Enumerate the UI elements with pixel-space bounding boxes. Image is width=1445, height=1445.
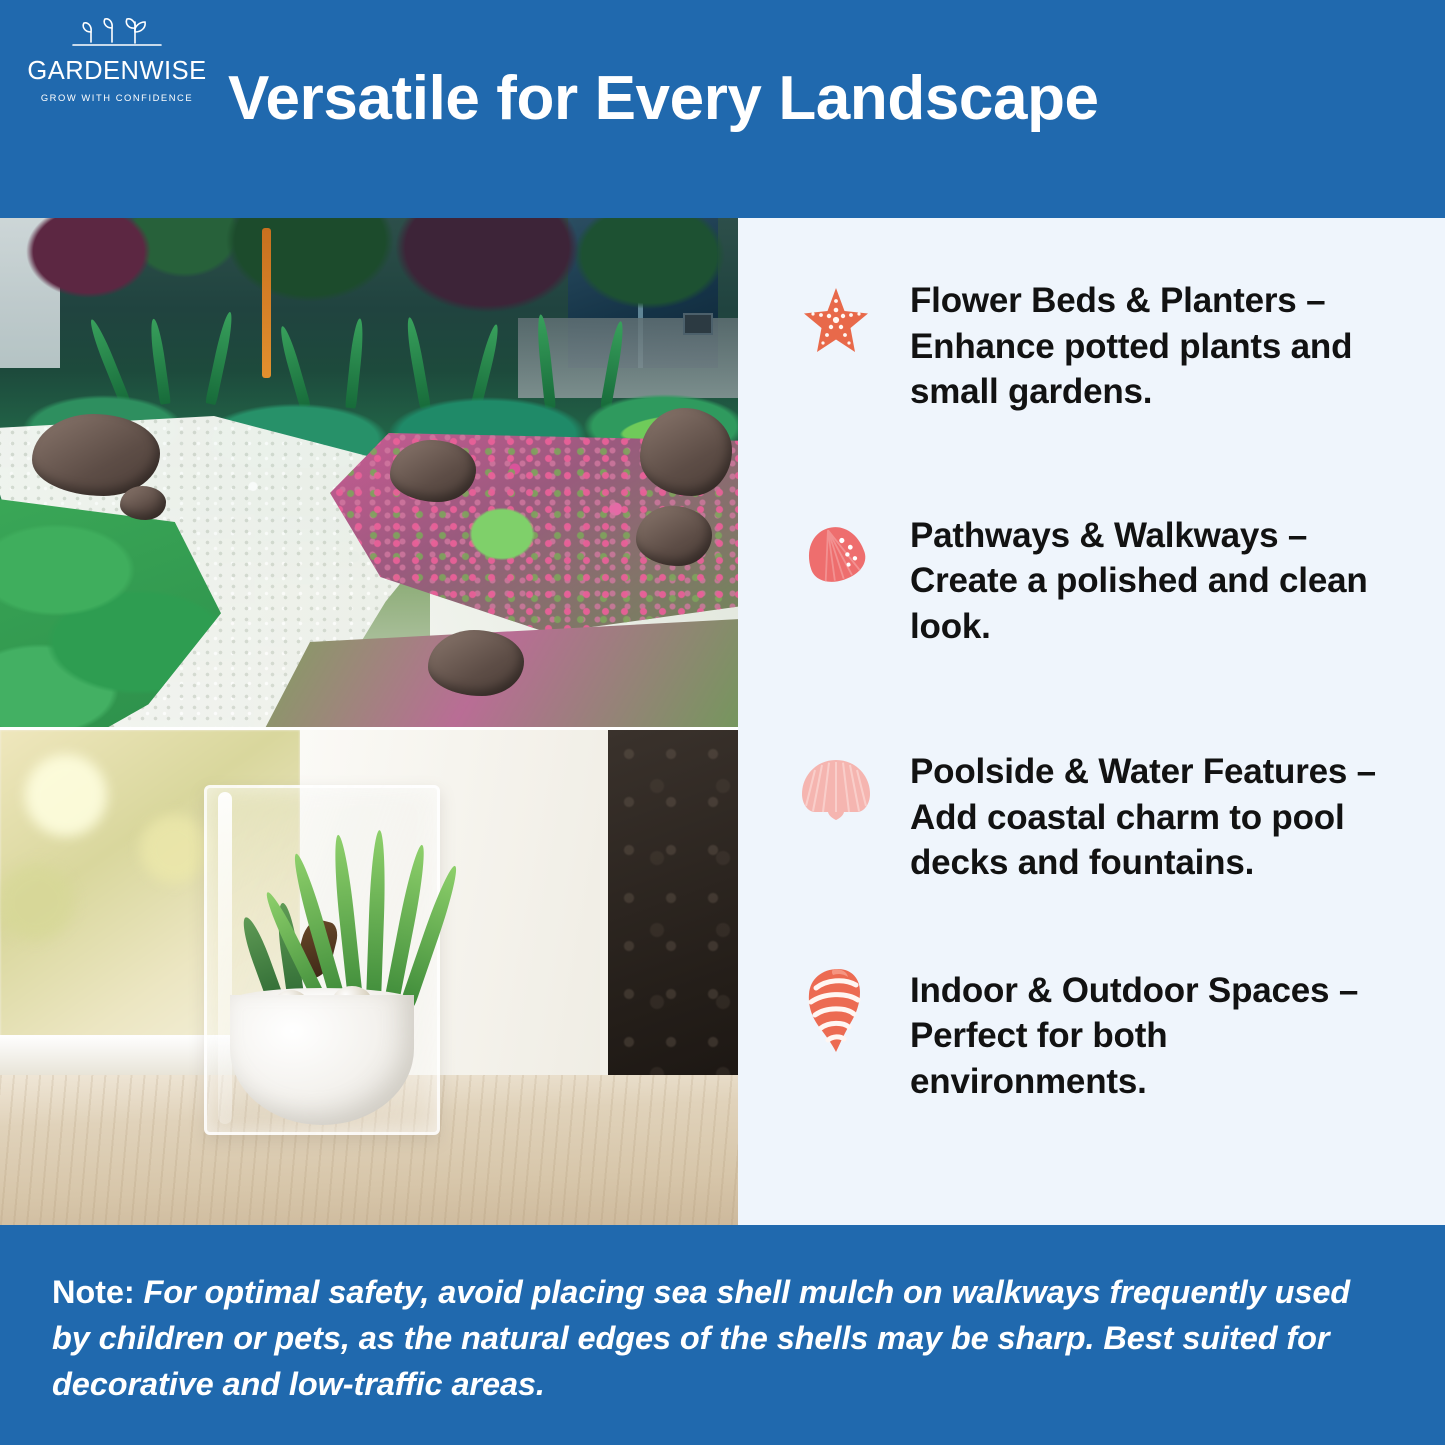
feature-text: Flower Beds & Planters – Enhance potted … [910, 276, 1409, 415]
feature-item: Indoor & Outdoor Spaces – Perfect for bo… [794, 966, 1409, 1105]
note-label: Note: [52, 1274, 135, 1310]
safety-note: Note: For optimal safety, avoid placing … [52, 1269, 1385, 1407]
plant-sprout-icon [57, 12, 177, 58]
starfish-icon [794, 276, 878, 360]
conch-shell-icon [794, 966, 878, 1050]
content-area: Flower Beds & Planters – Enhance potted … [0, 218, 1445, 1225]
clam-shell-icon [794, 511, 878, 595]
header-bar: GARDENWISE GROW WITH CONFIDENCE Versatil… [0, 0, 1445, 218]
feature-text: Poolside & Water Features – Add coastal … [910, 747, 1409, 886]
feature-item: Poolside & Water Features – Add coastal … [794, 747, 1409, 886]
indoor-planter-photo [0, 727, 738, 1225]
feature-item: Pathways & Walkways – Create a polished … [794, 511, 1409, 650]
feature-list: Flower Beds & Planters – Enhance potted … [738, 218, 1445, 1225]
scallop-shell-icon [794, 747, 878, 831]
footer-bar: Note: For optimal safety, avoid placing … [0, 1225, 1445, 1445]
brand-tagline: GROW WITH CONFIDENCE [41, 92, 193, 103]
garden-bed-photo [0, 218, 738, 727]
infographic-page: GARDENWISE GROW WITH CONFIDENCE Versatil… [0, 0, 1445, 1445]
feature-text: Pathways & Walkways – Create a polished … [910, 511, 1409, 650]
brand-name: GARDENWISE [27, 59, 206, 85]
feature-item: Flower Beds & Planters – Enhance potted … [794, 276, 1409, 415]
feature-text: Indoor & Outdoor Spaces – Perfect for bo… [910, 966, 1409, 1105]
brand-logo: GARDENWISE GROW WITH CONFIDENCE [14, 12, 220, 103]
note-body: For optimal safety, avoid placing sea sh… [52, 1274, 1350, 1402]
photo-column [0, 218, 738, 1225]
page-title: Versatile for Every Landscape [228, 66, 1099, 131]
